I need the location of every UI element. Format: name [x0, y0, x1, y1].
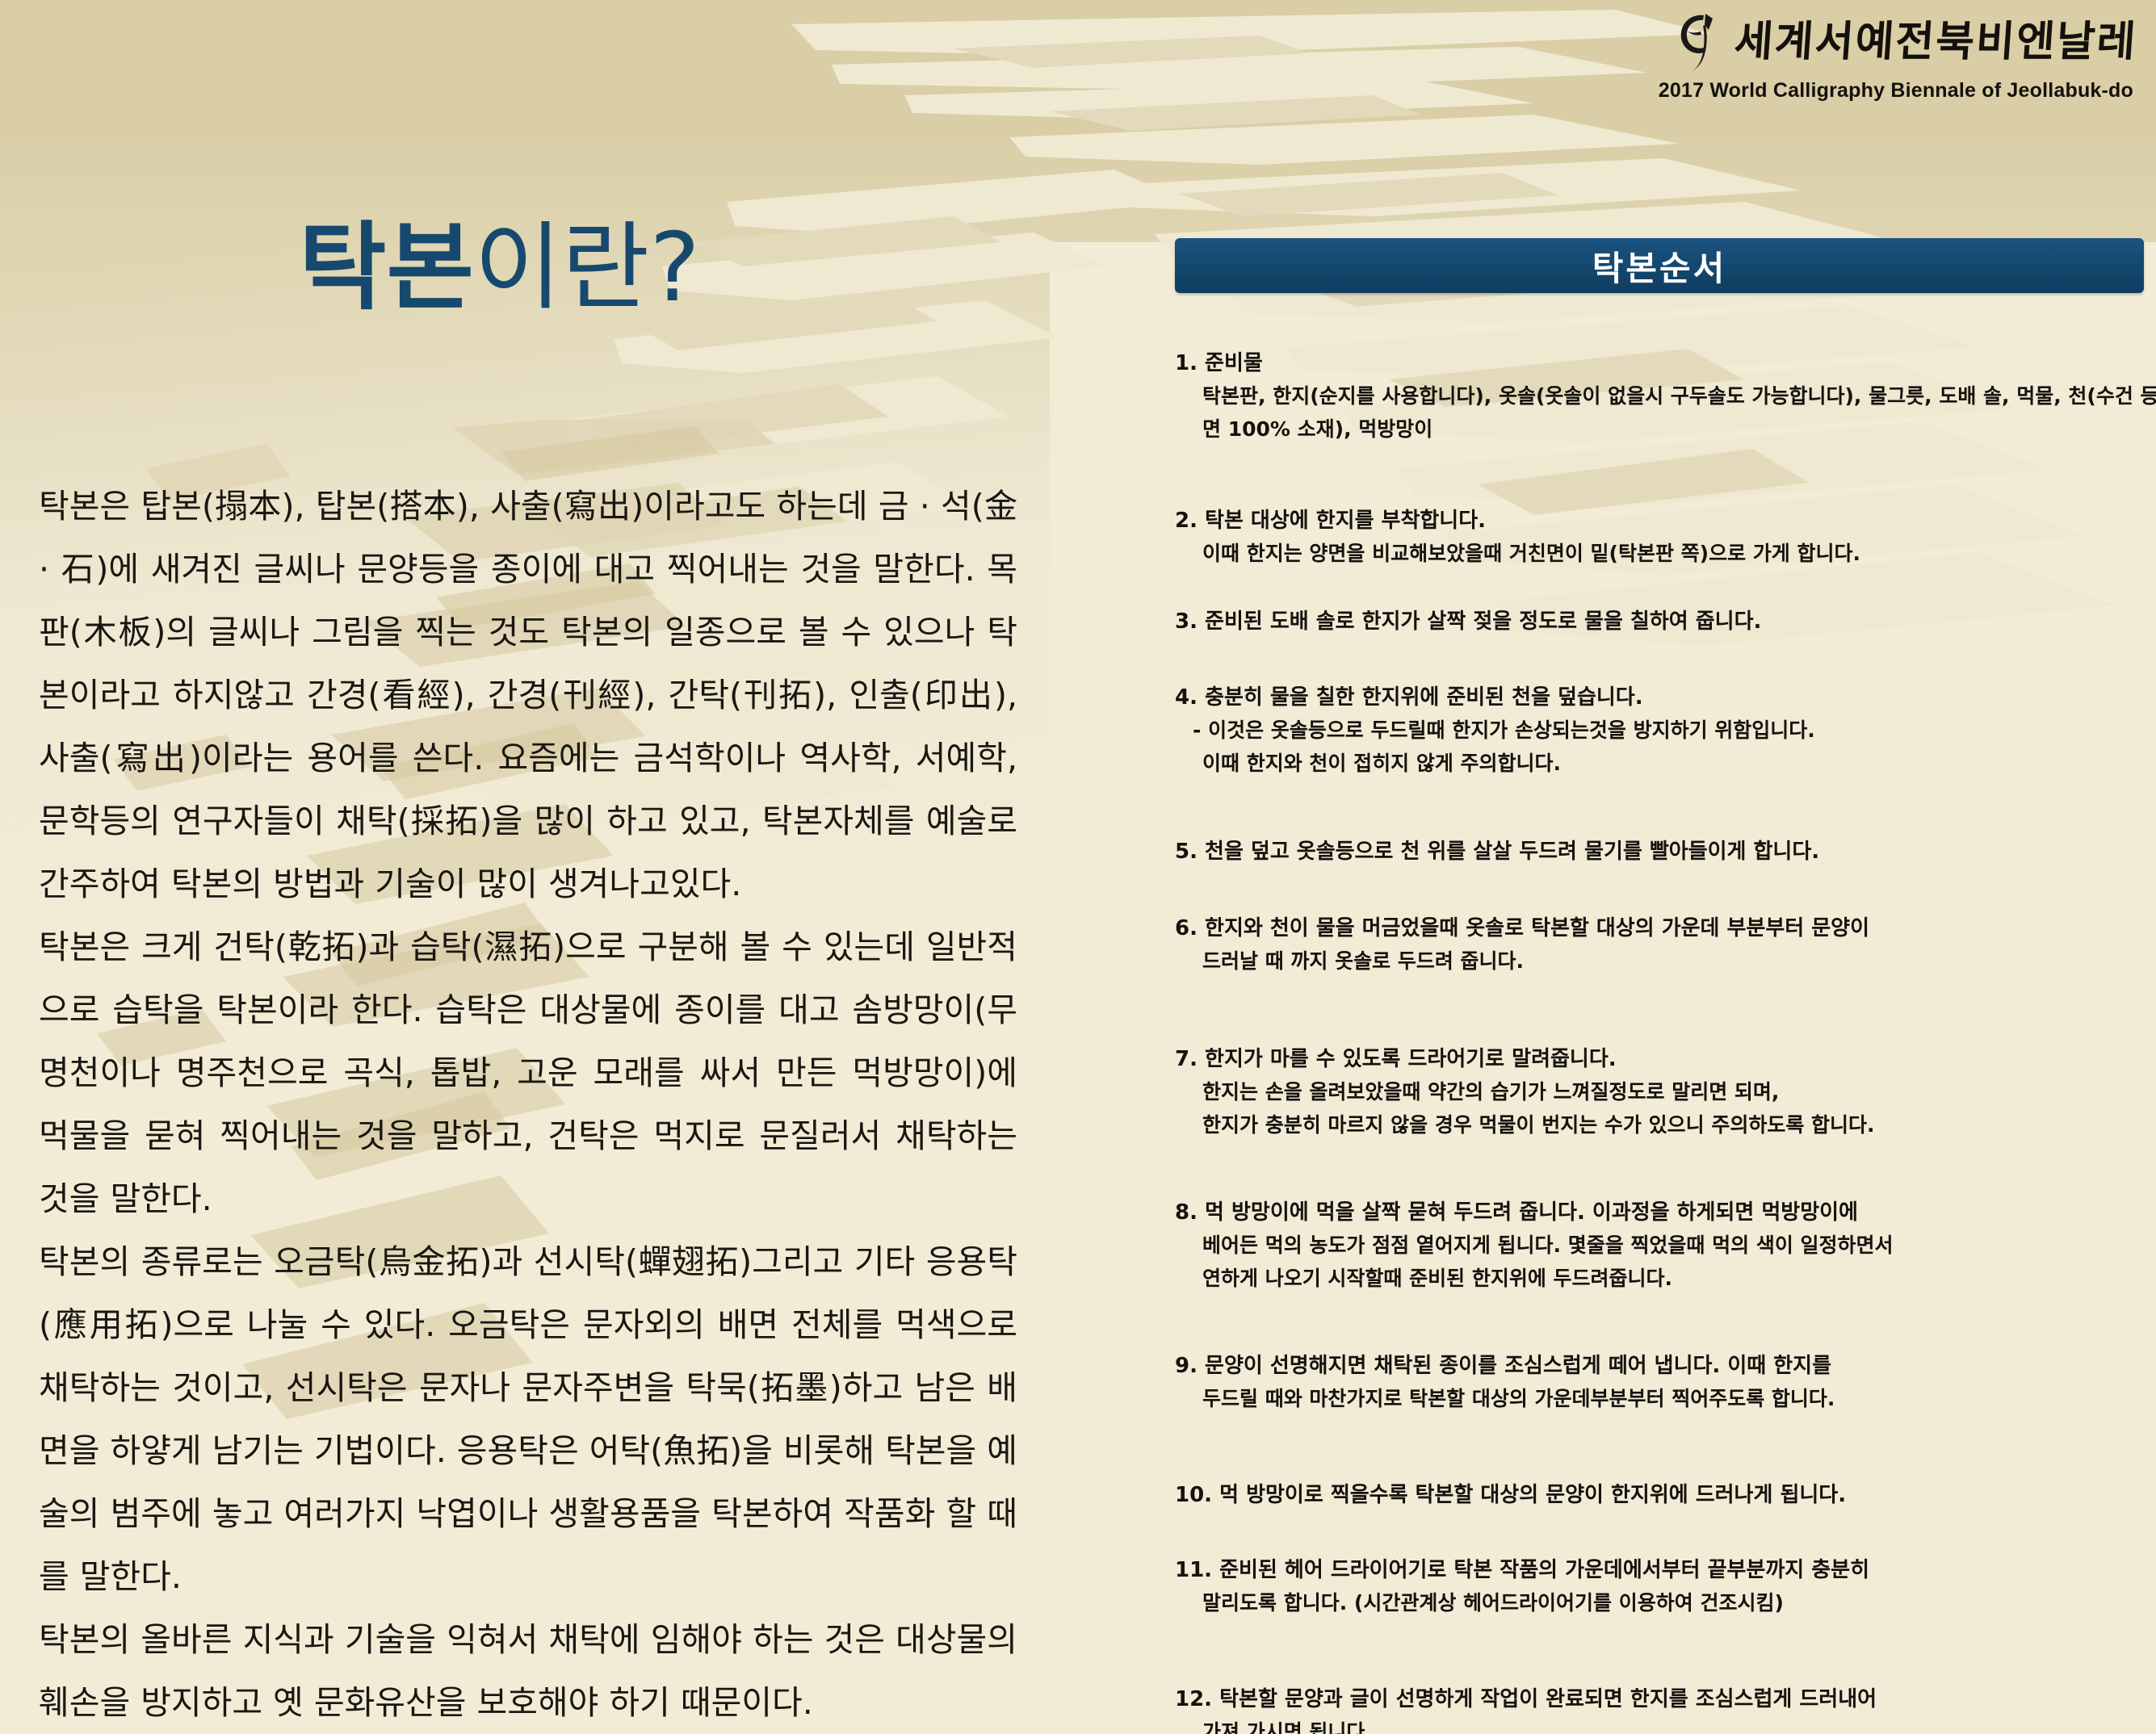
- procedure-step-6: 6. 한지와 천이 물을 머금었을때 옷솔로 탁본할 대상의 가운데 부분부터 …: [1175, 912, 1869, 978]
- step-detail: 연하게 나오기 시작할때 준비된 한지위에 두드려줍니다.: [1175, 1262, 1894, 1295]
- step-heading: 4. 충분히 물을 칠한 한지위에 준비된 천을 덮습니다.: [1175, 681, 1815, 714]
- procedure-step-2: 2. 탁본 대상에 한지를 부착합니다. 이때 한지는 양면을 비교해보았을때 …: [1175, 505, 1860, 570]
- procedure-step-8: 8. 먹 방망이에 먹을 살짝 묻혀 두드려 줍니다. 이과정을 하게되면 먹방…: [1175, 1196, 1894, 1295]
- step-detail: 가져 가시면 됩니다.: [1175, 1715, 1877, 1734]
- procedure-step-3: 3. 준비된 도배 솔로 한지가 살짝 젖을 정도로 물을 칠하여 줍니다.: [1175, 605, 1761, 638]
- procedure-step-9: 9. 문양이 선명해지면 채탁된 종이를 조심스럽게 떼어 냅니다. 이때 한지…: [1175, 1350, 1835, 1415]
- procedure-step-4: 4. 충분히 물을 칠한 한지위에 준비된 천을 덮습니다. - 이것은 옷솔등…: [1175, 681, 1815, 780]
- procedure-panel-title: 탁본순서: [1592, 241, 1727, 291]
- article-paragraph: 탁본은 탑본(搨本), 탑본(搭本), 사출(寫出)이라고도 하는데 금 · 석…: [39, 475, 1017, 915]
- article-body: 탁본은 탑본(搨本), 탑본(搭本), 사출(寫出)이라고도 하는데 금 · 석…: [39, 475, 1017, 1734]
- poster-canvas: 세계서예전북비엔날레 2017 World Calligraphy Bienna…: [0, 0, 2156, 1734]
- article-paragraph: 탁본은 크게 건탁(乾拓)과 습탁(濕拓)으로 구분해 볼 수 있는데 일반적으…: [39, 915, 1017, 1230]
- step-heading: 11. 준비된 헤어 드라이어기로 탁본 작품의 가운데에서부터 끝부분까지 충…: [1175, 1554, 1869, 1586]
- article-paragraph: 탁본의 종류로는 오금탁(烏金拓)과 선시탁(蟬翅拓)그리고 기타 응용탁(應用…: [39, 1230, 1017, 1608]
- page-title-light: 이란?: [474, 212, 700, 323]
- step-detail: 드러날 때 까지 옷솔로 두드려 줍니다.: [1175, 944, 1869, 978]
- procedure-panel-header: 탁본순서: [1175, 238, 2144, 293]
- left-column: 탁본이란? 탁본은 탑본(搨本), 탑본(搭本), 사출(寫出)이라고도 하는데…: [0, 0, 1050, 1734]
- step-heading: 10. 먹 방망이로 찍을수록 탁본할 대상의 문양이 한지위에 드러나게 됩니…: [1175, 1479, 1846, 1511]
- procedure-step-12: 12. 탁본할 문양과 글이 선명하게 작업이 완료되면 한지를 조심스럽게 드…: [1175, 1683, 1877, 1734]
- page-title: 탁본이란?: [299, 220, 700, 315]
- step-heading: 1. 준비물: [1175, 347, 2156, 379]
- step-heading: 6. 한지와 천이 물을 머금었을때 옷솔로 탁본할 대상의 가운데 부분부터 …: [1175, 912, 1869, 944]
- step-detail: 말리도록 합니다. (시간관계상 헤어드라이어기를 이용하여 건조시킴): [1175, 1586, 1869, 1619]
- step-heading: 2. 탁본 대상에 한지를 부착합니다.: [1175, 505, 1860, 537]
- step-detail: 베어든 먹의 농도가 점점 옅어지게 됩니다. 몇줄을 찍었을때 먹의 색이 일…: [1175, 1229, 1894, 1262]
- step-detail: - 이것은 옷솔등으로 두드릴때 한지가 손상되는것을 방지하기 위함입니다.: [1175, 714, 1815, 747]
- procedure-step-10: 10. 먹 방망이로 찍을수록 탁본할 대상의 문양이 한지위에 드러나게 됩니…: [1175, 1479, 1846, 1511]
- step-heading: 3. 준비된 도배 솔로 한지가 살짝 젖을 정도로 물을 칠하여 줍니다.: [1175, 605, 1761, 638]
- step-heading: 5. 천을 덮고 옷솔등으로 천 위를 살살 두드려 물기를 빨아들이게 합니다…: [1175, 836, 1819, 868]
- step-detail: 면 100% 소재), 먹방망이: [1175, 413, 2156, 446]
- step-detail: 탁본판, 한지(순지를 사용합니다), 옷솔(옷솔이 없을시 구두솔도 가능합니…: [1175, 379, 2156, 413]
- step-detail: 이때 한지와 천이 접히지 않게 주의합니다.: [1175, 747, 1815, 780]
- procedure-step-5: 5. 천을 덮고 옷솔등으로 천 위를 살살 두드려 물기를 빨아들이게 합니다…: [1175, 836, 1819, 868]
- step-detail: 이때 한지는 양면을 비교해보았을때 거친면이 밑(탁본판 쪽)으로 가게 합니…: [1175, 537, 1860, 570]
- procedure-step-7: 7. 한지가 마를 수 있도록 드라어기로 말려줍니다. 한지는 손을 올려보았…: [1175, 1043, 1875, 1141]
- procedure-step-11: 11. 준비된 헤어 드라이어기로 탁본 작품의 가운데에서부터 끝부분까지 충…: [1175, 1554, 1869, 1619]
- step-detail: 한지는 손을 올려보았을때 약간의 습기가 느껴질정도로 말리면 되며,: [1175, 1075, 1875, 1108]
- step-heading: 7. 한지가 마를 수 있도록 드라어기로 말려줍니다.: [1175, 1043, 1875, 1075]
- step-heading: 9. 문양이 선명해지면 채탁된 종이를 조심스럽게 떼어 냅니다. 이때 한지…: [1175, 1350, 1835, 1382]
- page-title-strong: 탁본: [299, 212, 474, 323]
- procedure-step-1: 1. 준비물 탁본판, 한지(순지를 사용합니다), 옷솔(옷솔이 없을시 구두…: [1175, 347, 2156, 446]
- step-heading: 12. 탁본할 문양과 글이 선명하게 작업이 완료되면 한지를 조심스럽게 드…: [1175, 1683, 1877, 1715]
- step-detail: 두드릴 때와 마찬가지로 탁본할 대상의 가운데부분부터 찍어주도록 합니다.: [1175, 1382, 1835, 1415]
- step-heading: 8. 먹 방망이에 먹을 살짝 묻혀 두드려 줍니다. 이과정을 하게되면 먹방…: [1175, 1196, 1894, 1229]
- step-detail: 한지가 충분히 마르지 않을 경우 먹물이 번지는 수가 있으니 주의하도록 합…: [1175, 1108, 1875, 1141]
- article-paragraph: 탁본의 올바른 지식과 기술을 익혀서 채탁에 임해야 하는 것은 대상물의 훼…: [39, 1608, 1017, 1734]
- right-column: 탁본순서 1. 준비물 탁본판, 한지(순지를 사용합니다), 옷솔(옷솔이 없…: [1175, 0, 2156, 1734]
